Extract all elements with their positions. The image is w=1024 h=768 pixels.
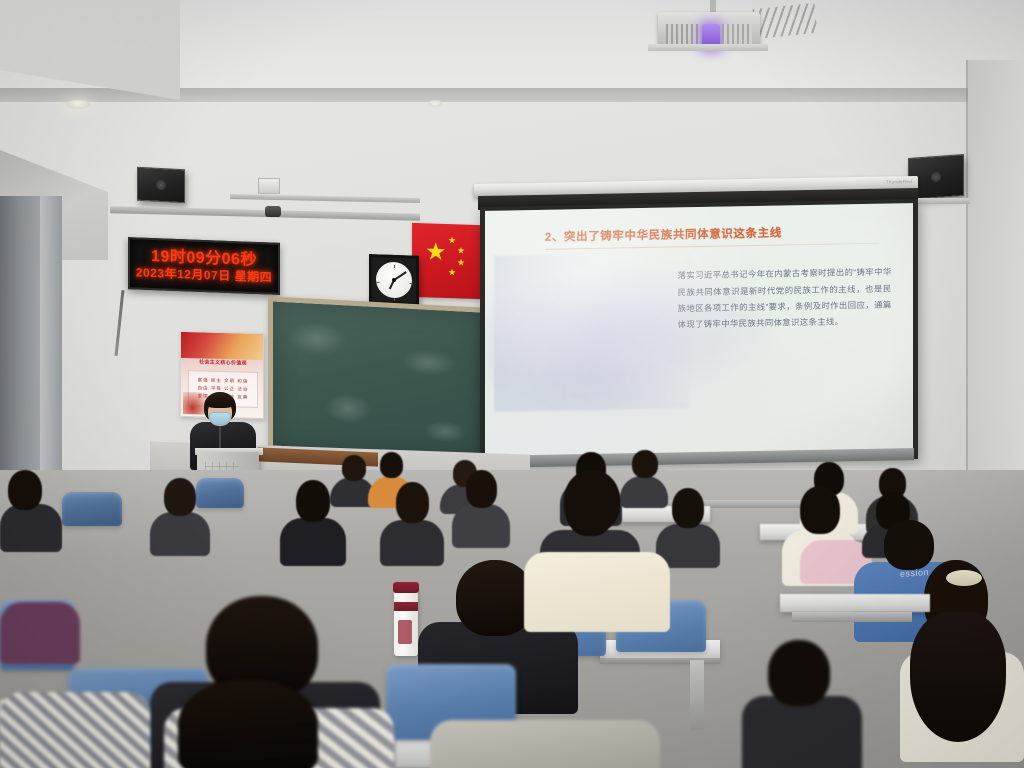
motion-sensor-icon [265, 206, 281, 217]
clock-tick [394, 265, 395, 268]
student-row-front-right-1 [900, 560, 1020, 760]
student-head [456, 560, 534, 636]
student-long-hair [910, 612, 1006, 742]
student-head [164, 478, 196, 516]
student-torso [452, 504, 510, 548]
lecture-seat[interactable] [62, 492, 122, 526]
teacher-bangs [205, 396, 235, 408]
projection-screen-surface: 2、突出了铸牢中华民族共同体意识这条主线 落实习近平总书记今年在内蒙古考察时提出… [485, 203, 913, 462]
slide-background-graphic [494, 252, 691, 411]
flag-star-large: ★ [425, 240, 447, 265]
clock-tick [394, 298, 395, 301]
student-torso [742, 696, 862, 768]
desk-right-mid [780, 594, 930, 612]
desk-leg [690, 660, 704, 730]
ceiling-fixture-icon [428, 100, 442, 107]
student-head [396, 482, 429, 523]
student-torso [524, 552, 670, 632]
student-row-front-left-3 [0, 572, 80, 662]
student-cream-sweater [524, 518, 670, 628]
chalk-smudge [401, 348, 455, 377]
student-row-mid-left-2 [150, 478, 210, 554]
clock-center-pin [392, 278, 396, 282]
student-head [768, 640, 830, 706]
student-head [632, 450, 658, 478]
student-torso [280, 518, 346, 566]
student-row-mid-center-2 [380, 482, 444, 564]
ceiling-projector [658, 4, 776, 54]
student-thermos-bottle [394, 590, 418, 656]
student-head [8, 470, 42, 510]
thermos-cap [393, 582, 419, 593]
flag-star-small-3: ★ [457, 258, 465, 267]
led-clock-display: 19时09分06秒 2023年12月07日 星期四 [128, 237, 280, 295]
ceiling-light-icon [66, 100, 90, 109]
wall-junction-box [258, 178, 280, 194]
student-head [466, 470, 497, 508]
student-row-mid-center-3 [452, 470, 510, 546]
student-row-front-right-2 [430, 700, 660, 768]
hair-clip-accessory [946, 570, 982, 586]
classroom-photo-scene: 19时09分06秒 2023年12月07日 星期四 ★ ★ ★ ★ ★ 社会主义… [0, 0, 1024, 768]
projection-screen: 2、突出了铸牢中华民族共同体意识这条主线 落实习近平总书记今年在内蒙古考察时提出… [480, 199, 918, 467]
student-row-mid-left-1 [0, 470, 62, 550]
student-head [380, 452, 403, 478]
flag-star-small-4: ★ [448, 268, 456, 277]
student-row-mid-center-1 [280, 480, 346, 564]
slide-title: 2、突出了铸牢中华民族共同体意识这条主线 [545, 222, 896, 244]
chalk-smudge [325, 392, 371, 424]
thermos-band [394, 602, 418, 611]
student-torso [0, 504, 62, 552]
thermos-label [398, 620, 412, 644]
flag-star-small-2: ★ [457, 246, 465, 255]
door-frame-left [0, 196, 62, 496]
wall-speaker-left [137, 167, 185, 204]
student-torso [430, 720, 660, 768]
student-torso [0, 602, 80, 664]
flag-star-small-1: ★ [448, 236, 456, 245]
wall-clock [369, 254, 419, 306]
screen-brand-label: ThundeRed [886, 179, 912, 184]
student-head [178, 680, 318, 768]
projector-body [658, 12, 760, 46]
student-torso [150, 512, 210, 556]
student-patterned-coat [0, 692, 150, 768]
student-row-front-right-3 [742, 640, 862, 768]
led-date-text: 2023年12月07日 星期四 [136, 266, 272, 283]
clock-tick [409, 283, 412, 284]
chalk-smudge [287, 320, 347, 357]
chalk-smudge [423, 419, 467, 443]
desk-support-rail [792, 612, 912, 622]
poster-value-row: 富强 民主 文明 和谐 [191, 377, 255, 385]
poster-title: 社会主义核心价值观 [187, 358, 259, 367]
chinese-national-flag: ★ ★ ★ ★ ★ [412, 223, 480, 299]
wall-seam [966, 60, 968, 490]
poster-header-art [181, 332, 264, 360]
green-chalkboard [268, 296, 486, 461]
slide-body-text: 落实习近平总书记今年在内蒙古考察时提出的“铸牢中华民族共同体意识是新时代党的民族… [678, 264, 892, 333]
student-head [342, 455, 366, 481]
student-head [672, 488, 704, 528]
student-head [296, 480, 330, 522]
student-head [564, 470, 620, 532]
student-row-front-center-3 [158, 680, 358, 768]
clock-face [376, 261, 412, 298]
right-wall [968, 60, 1024, 520]
clock-tick [376, 282, 379, 283]
projector-shelf [648, 44, 768, 51]
